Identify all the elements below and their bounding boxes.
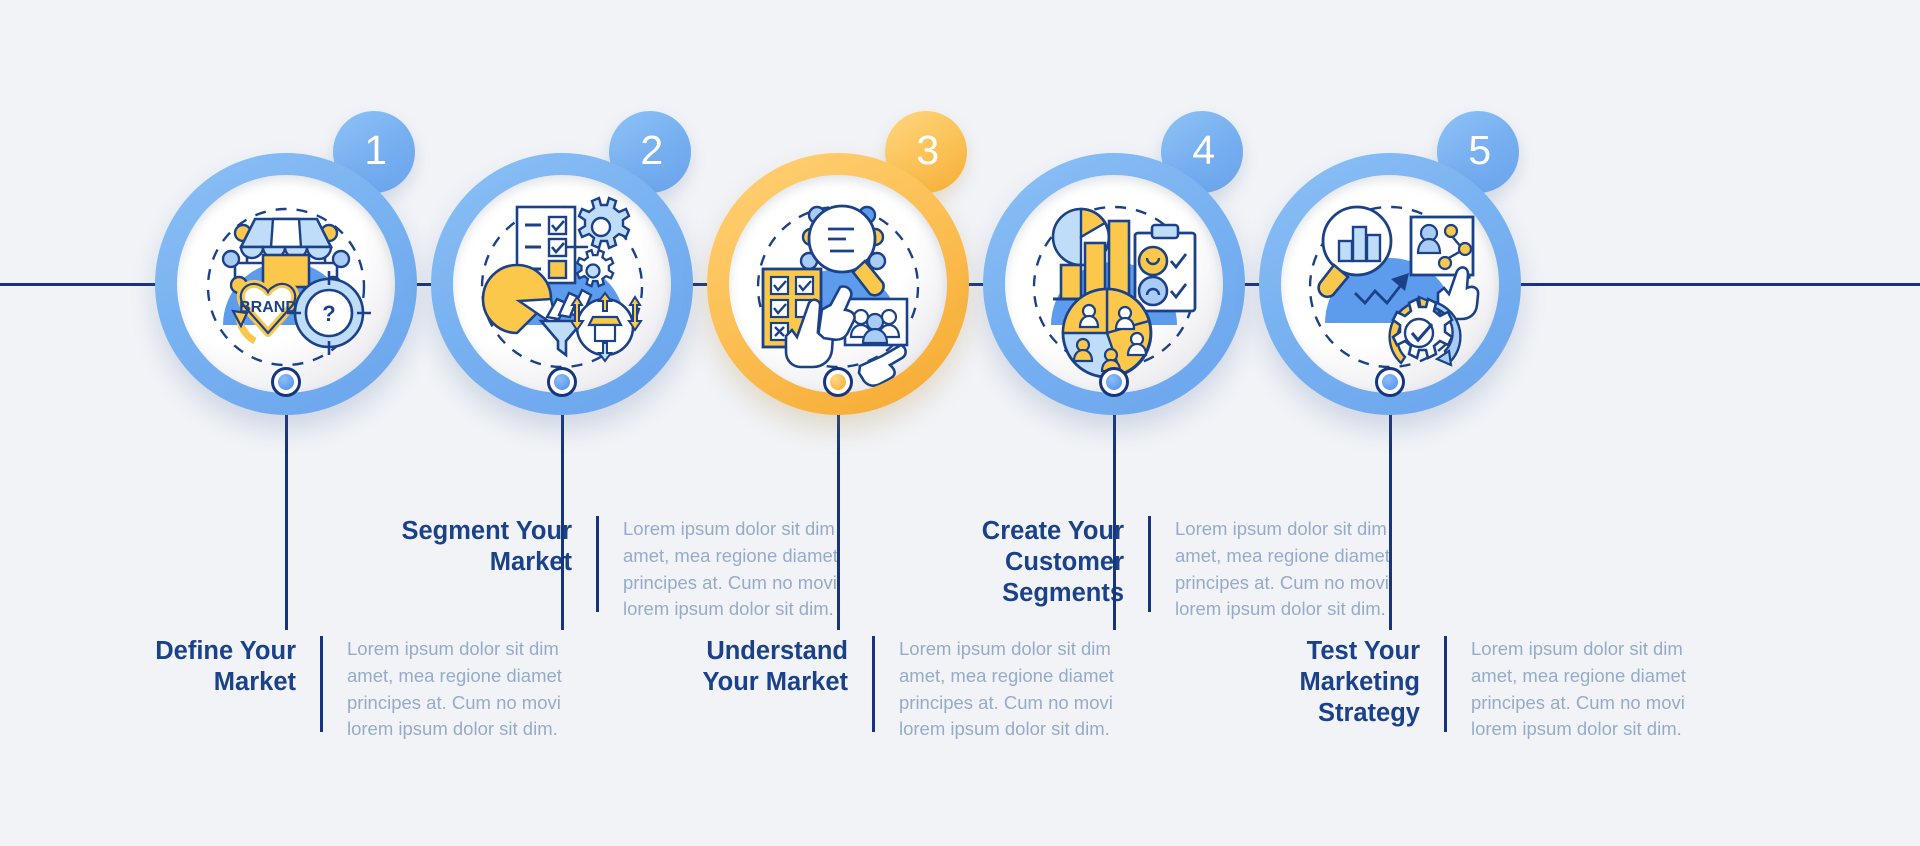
step-description-5: Lorem ipsum dolor sit dim amet, mea regi…: [1447, 636, 1717, 743]
step-stem-5: [1389, 415, 1392, 630]
step-text-block-5: Test Your Marketing Strategy Lorem ipsum…: [1204, 636, 1764, 743]
magnifier-growth-gear-cycle-icon: [1281, 175, 1499, 393]
step-ring-inner-5: [1281, 175, 1499, 393]
step-ring-inner-1: BRAND ?: [177, 175, 395, 393]
checklist-gears-piechart-funnel-icon: [453, 175, 671, 393]
step-ring-inner-4: [1005, 175, 1223, 393]
step-marker-dot-5: [1375, 367, 1405, 397]
infographic-canvas: 1: [0, 0, 1920, 846]
step-text-block-1: Define Your Market Lorem ipsum dolor sit…: [100, 636, 660, 743]
magnifier-survey-audience-icon: [729, 175, 947, 393]
step-description-1: Lorem ipsum dolor sit dim amet, mea regi…: [323, 636, 593, 743]
step-marker-dot-3: [823, 367, 853, 397]
step-text-block-2: Segment Your Market Lorem ipsum dolor si…: [376, 516, 936, 623]
step-marker-dot-4: [1099, 367, 1129, 397]
step-stem-2: [561, 415, 564, 630]
step-stem-3: [837, 415, 840, 630]
step-number-2: 2: [640, 130, 663, 171]
step-marker-dot-2: [547, 367, 577, 397]
step-number-4: 4: [1192, 130, 1215, 171]
step-marker-dot-1: [271, 367, 301, 397]
step-number-5: 5: [1468, 130, 1491, 171]
step-text-block-4: Create Your Customer Segments Lorem ipsu…: [928, 516, 1488, 623]
step-title-5: Test Your Marketing Strategy: [1204, 636, 1444, 729]
storefront-brand-target-icon: BRAND ?: [177, 175, 395, 393]
step-number-3: 3: [916, 130, 939, 171]
step-stem-4: [1113, 415, 1116, 630]
step-ring-inner-2: [453, 175, 671, 393]
step-description-2: Lorem ipsum dolor sit dim amet, mea regi…: [599, 516, 869, 623]
step-description-3: Lorem ipsum dolor sit dim amet, mea regi…: [875, 636, 1145, 743]
svg-text:?: ?: [322, 301, 335, 326]
step-title-3: Understand Your Market: [652, 636, 872, 698]
step-ring-inner-3: [729, 175, 947, 393]
step-stem-1: [285, 415, 288, 630]
step-description-4: Lorem ipsum dolor sit dim amet, mea regi…: [1151, 516, 1421, 623]
barchart-clipboard-segment-pie-icon: [1005, 175, 1223, 393]
step-title-1: Define Your Market: [100, 636, 320, 698]
step-text-block-3: Understand Your Market Lorem ipsum dolor…: [652, 636, 1212, 743]
step-number-1: 1: [364, 130, 387, 171]
